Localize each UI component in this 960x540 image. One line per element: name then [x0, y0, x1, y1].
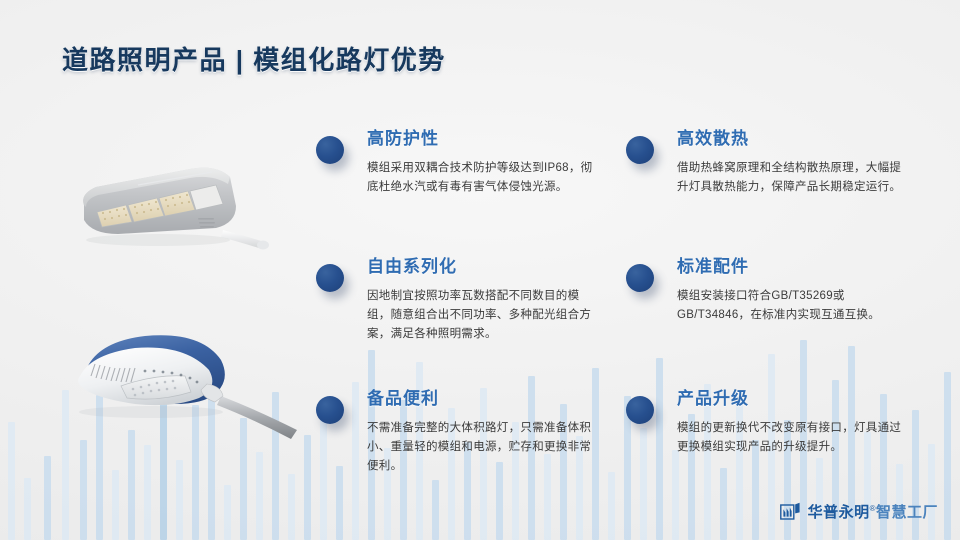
decorative-bar — [8, 422, 15, 540]
feature-item-free-serialization: 自由系列化 因地制宜按照功率瓦数搭配不同数目的模组，随意组合出不同功率、多种配光… — [312, 256, 622, 344]
bullet-dot-icon — [316, 396, 344, 424]
feature-heading: 自由系列化 — [367, 256, 622, 278]
feature-grid: 高防护性 模组采用双耦合技术防护等级达到IP68，彻底杜绝水汽或有毒有害气体侵蚀… — [312, 128, 952, 498]
decorative-bar — [24, 478, 31, 540]
bullet-dot-icon — [626, 396, 654, 424]
feature-body: 借助热蜂窝原理和全结构散热原理，大幅提升灯具散热能力，保障产品长期稳定运行。 — [677, 159, 909, 197]
decorative-bar — [304, 435, 311, 540]
feature-heading: 标准配件 — [677, 256, 932, 278]
brand-logo: 华普永明®智慧工厂 — [780, 501, 938, 522]
feature-item-product-upgrade: 产品升级 模组的更新换代不改变原有接口，灯具通过更换模组实现产品的升级提升。 — [622, 388, 932, 457]
decorative-bar — [80, 440, 87, 540]
decorative-bar — [288, 474, 295, 540]
feature-heading: 高防护性 — [367, 128, 622, 150]
feature-heading: 高效散热 — [677, 128, 932, 150]
decorative-bar — [256, 452, 263, 540]
bullet-dot-icon — [316, 136, 344, 164]
feature-body: 模组的更新换代不改变原有接口，灯具通过更换模组实现产品的升级提升。 — [677, 419, 909, 457]
feature-item-spare-parts-convenience: 备品便利 不需准备完整的大体积路灯，只需准备体积小、重量轻的模组和电源，贮存和更… — [312, 388, 622, 476]
decorative-bar — [144, 445, 151, 540]
huapu-yongming-logo-mark — [780, 502, 802, 522]
bullet-dot-icon — [626, 136, 654, 164]
modular-led-street-lamp-gray — [40, 150, 295, 260]
feature-body: 因地制宜按照功率瓦数搭配不同数目的模组，随意组合出不同功率、多种配光组合方案，满… — [367, 287, 599, 344]
feature-body: 模组采用双耦合技术防护等级达到IP68，彻底杜绝水汽或有毒有害气体侵蚀光源。 — [367, 159, 599, 197]
feature-body: 模组安装接口符合GB/T35269或GB/T34846，在标准内实现互通互换。 — [677, 287, 909, 325]
page-title: 道路照明产品 | 模组化路灯优势 — [62, 40, 446, 77]
feature-item-standard-accessories: 标准配件 模组安装接口符合GB/T35269或GB/T34846，在标准内实现互… — [622, 256, 932, 325]
decorative-bar — [44, 456, 51, 540]
brand-name: 华普永明 — [808, 504, 870, 521]
feature-item-high-protection: 高防护性 模组采用双耦合技术防护等级达到IP68，彻底杜绝水汽或有毒有害气体侵蚀… — [312, 128, 622, 197]
bullet-dot-icon — [626, 264, 654, 292]
feature-body: 不需准备完整的大体积路灯，只需准备体积小、重量轻的模组和电源，贮存和更换非常便利… — [367, 419, 599, 476]
bullet-dot-icon — [316, 264, 344, 292]
decorative-bar — [112, 470, 119, 540]
page-title-text: 道路照明产品 | 模组化路灯优势 — [62, 40, 446, 77]
feature-heading: 备品便利 — [367, 388, 622, 410]
decorative-bar — [176, 460, 183, 540]
decorative-bar — [224, 485, 231, 540]
slide-root: 道路照明产品 | 模组化路灯优势 — [0, 0, 960, 540]
modular-led-street-lamp-blue — [25, 318, 305, 443]
brand-logo-text: 华普永明®智慧工厂 — [808, 501, 938, 522]
decorative-bar — [128, 430, 135, 540]
feature-item-heat-dissipation: 高效散热 借助热蜂窝原理和全结构散热原理，大幅提升灯具散热能力，保障产品长期稳定… — [622, 128, 932, 197]
sub-brand-name: 智慧工厂 — [876, 504, 938, 521]
feature-heading: 产品升级 — [677, 388, 932, 410]
